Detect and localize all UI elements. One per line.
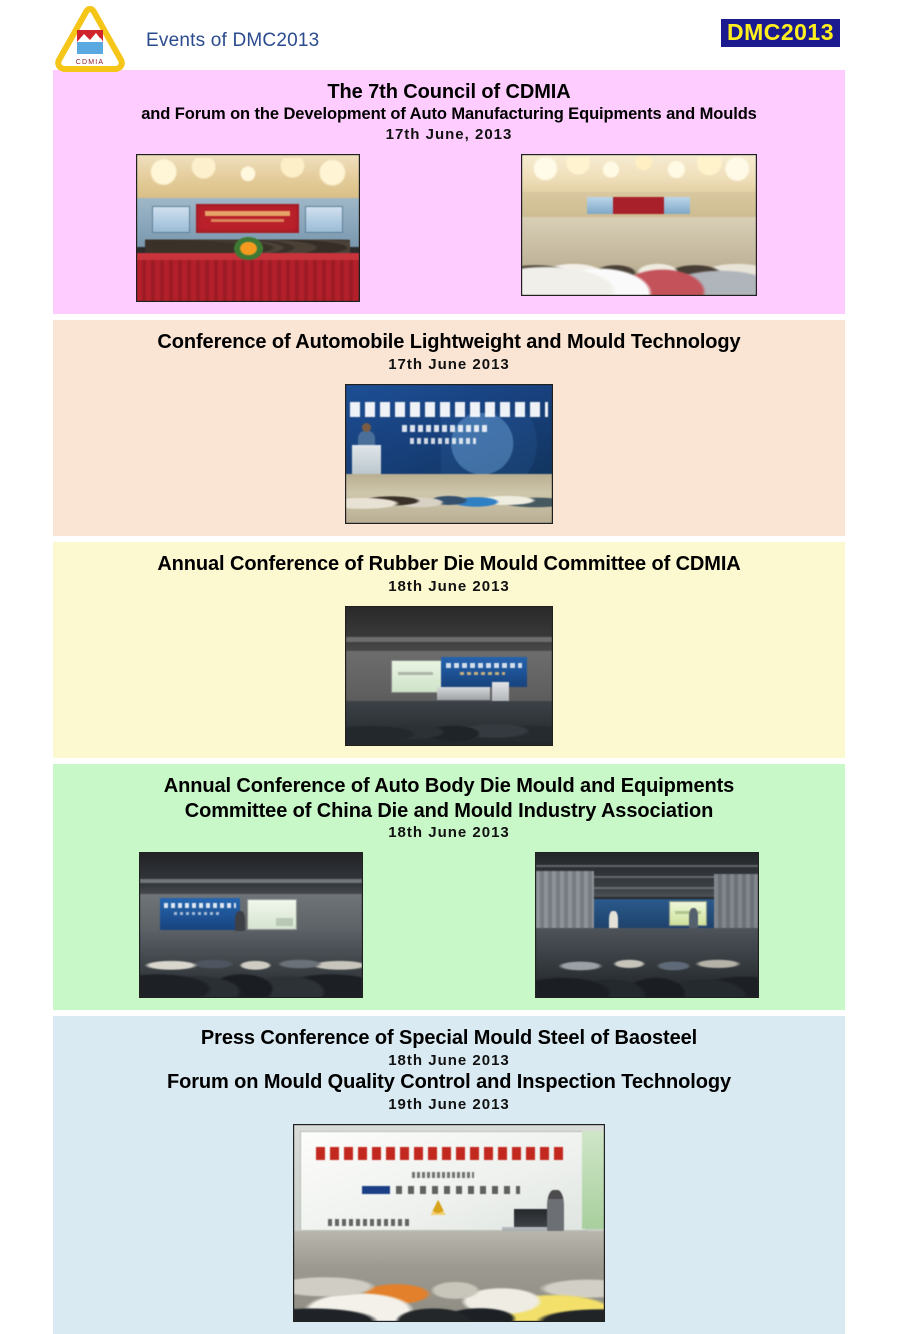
section-subtitle: Committee of China Die and Mould Industr… xyxy=(59,799,839,823)
page-title: Events of DMC2013 xyxy=(146,30,319,52)
section-title: Press Conference of Special Mould Steel … xyxy=(59,1026,839,1050)
section-baosteel: Press Conference of Special Mould Steel … xyxy=(53,1016,845,1334)
section-date: 18th June 2013 xyxy=(59,823,839,843)
dmc2013-badge: DMC2013 xyxy=(721,19,840,47)
section-date: 17th June 2013 xyxy=(59,355,839,375)
section-date: 18th June 2013 xyxy=(59,1051,839,1071)
section-date: 18th June 2013 xyxy=(59,577,839,597)
section-title: Annual Conference of Rubber Die Mould Co… xyxy=(59,552,839,576)
section-autobody: Annual Conference of Auto Body Die Mould… xyxy=(53,764,845,1010)
photo-row xyxy=(59,384,839,524)
photo-autobody-room xyxy=(139,852,363,998)
page-header: CDMIA Events of DMC2013 DMC2013 xyxy=(0,0,898,70)
section-subtitle: and Forum on the Development of Auto Man… xyxy=(59,104,839,124)
photo-rubber-meeting xyxy=(345,606,553,746)
section-rubber: Annual Conference of Rubber Die Mould Co… xyxy=(53,542,845,758)
photo-lightweight-lecture xyxy=(345,384,553,524)
photo-baosteel-press xyxy=(293,1124,605,1322)
cdmia-logo: CDMIA xyxy=(52,6,128,74)
photo-council-head-table xyxy=(136,154,360,302)
photo-row xyxy=(59,154,839,302)
section-title: Annual Conference of Auto Body Die Mould… xyxy=(59,774,839,798)
svg-text:CDMIA: CDMIA xyxy=(76,59,105,66)
photo-row xyxy=(59,852,839,998)
section-date-secondary: 19th June 2013 xyxy=(59,1095,839,1115)
section-title: Conference of Automobile Lightweight and… xyxy=(59,330,839,354)
photo-row xyxy=(59,606,839,746)
section-title: The 7th Council of CDMIA xyxy=(59,80,839,104)
section-council: The 7th Council of CDMIA and Forum on th… xyxy=(53,70,845,314)
section-date: 17th June, 2013 xyxy=(59,125,839,145)
photo-council-audience xyxy=(521,154,757,296)
photo-row xyxy=(59,1124,839,1322)
section-title-secondary: Forum on Mould Quality Control and Inspe… xyxy=(59,1070,839,1094)
section-lightweight: Conference of Automobile Lightweight and… xyxy=(53,320,845,536)
photo-autobody-hall xyxy=(535,852,759,998)
